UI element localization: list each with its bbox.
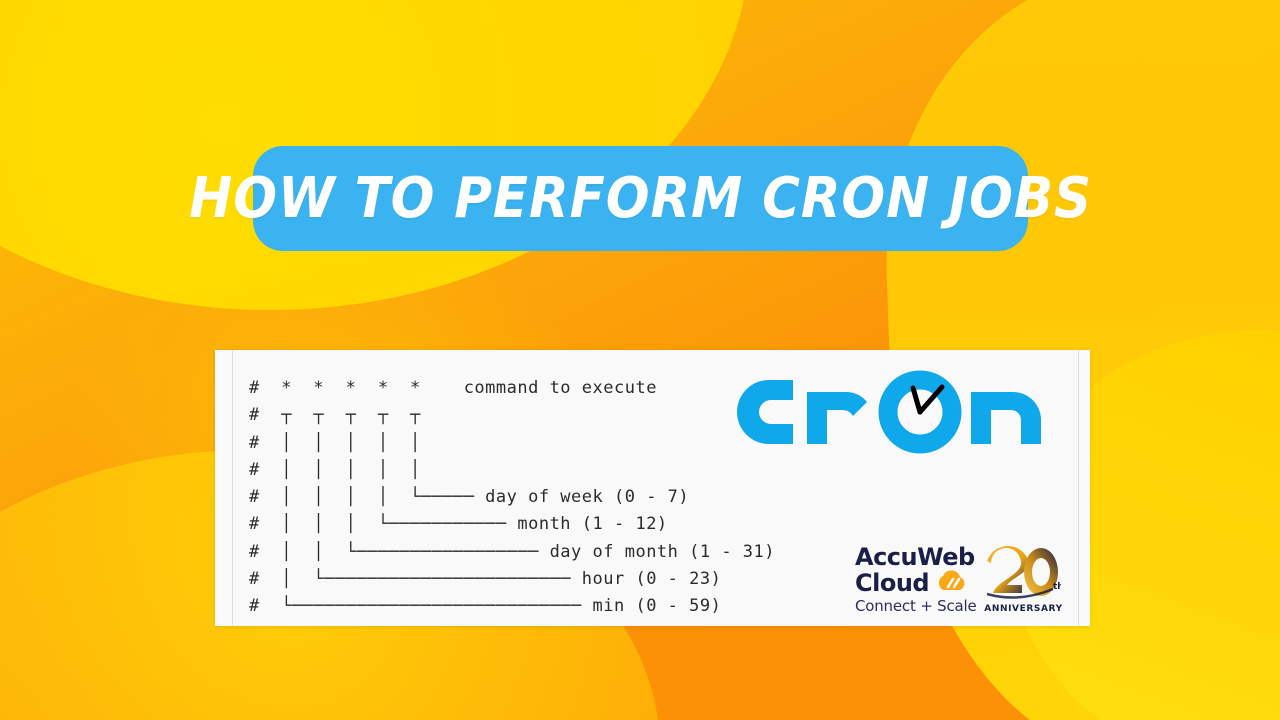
- accuweb-line2: Cloud: [855, 571, 929, 596]
- title-banner: HOW TO PERFORM CRON JOBS: [253, 146, 1028, 251]
- accuweb-wordmark: AccuWeb Cloud Connect + Scale: [855, 545, 976, 614]
- svg-text:th: th: [1053, 582, 1061, 592]
- page-title: HOW TO PERFORM CRON JOBS: [189, 171, 1092, 227]
- anniversary-20-mark: th: [985, 545, 1061, 603]
- cron-syntax-diagram: # * * * * * command to execute # ┬ ┬ ┬ ┬…: [249, 375, 775, 621]
- accuweb-tagline: Connect + Scale: [855, 599, 976, 614]
- cron-logo: [735, 358, 1065, 463]
- accuweb-line1: AccuWeb: [855, 545, 975, 570]
- accuweb-line2-row: Cloud: [855, 570, 976, 596]
- anniversary-badge: th ANNIVERSARY: [982, 545, 1064, 614]
- accuweb-cloud-logo: AccuWeb Cloud Connect + Scale: [855, 532, 1080, 614]
- accuweb-line1-row: AccuWeb: [855, 545, 976, 570]
- poster-canvas: HOW TO PERFORM CRON JOBS # * * * * * com…: [0, 0, 1280, 720]
- cloud-icon: [934, 570, 968, 596]
- cron-diagram-card: # * * * * * command to execute # ┬ ┬ ┬ ┬…: [215, 350, 1090, 626]
- card-left-divider: [232, 350, 233, 626]
- anniversary-label: ANNIVERSARY: [984, 604, 1062, 614]
